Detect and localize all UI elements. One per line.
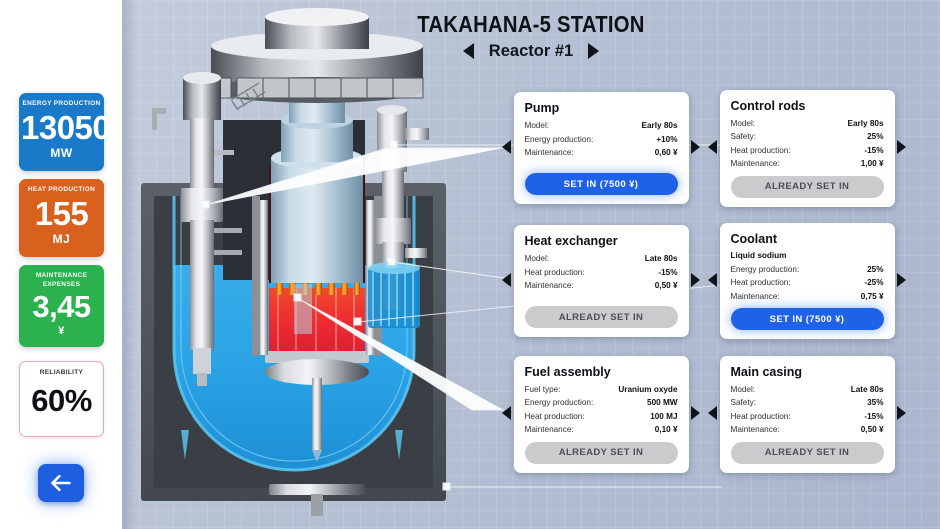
table-row: Model: Late 80s bbox=[731, 383, 884, 397]
pump-set-in-button[interactable]: SET IN (7500 ¥) bbox=[525, 173, 678, 195]
main-panel: TAKAHANA-5 STATION Reactor #1 bbox=[122, 0, 940, 529]
row-value: 0,10 ¥ bbox=[655, 423, 678, 437]
fuel-assembly-next-button[interactable] bbox=[691, 406, 700, 420]
table-row: Fuel type: Uranium oxyde bbox=[525, 383, 678, 397]
table-row: Heat production: -15% bbox=[525, 266, 678, 280]
heat-exchanger-next-button[interactable] bbox=[691, 273, 700, 287]
card-title: Control rods bbox=[731, 98, 884, 114]
stat-unit: MJ bbox=[21, 232, 102, 246]
table-row: Model: Early 80s bbox=[731, 117, 884, 131]
coolant-set-in-button[interactable]: SET IN (7500 ¥) bbox=[731, 308, 884, 330]
arrow-left-icon bbox=[50, 474, 72, 492]
table-row: Heat production: -25% bbox=[731, 276, 884, 290]
fuel-assembly-prev-button[interactable] bbox=[502, 406, 511, 420]
heat-exchanger-prev-button[interactable] bbox=[502, 273, 511, 287]
component-card-pump: Pump Model: Early 80s Energy production:… bbox=[514, 92, 689, 204]
component-card-main-casing: Main casing Model: Late 80s Safety: 35% … bbox=[720, 356, 895, 473]
row-label: Heat production: bbox=[525, 266, 585, 280]
table-row: Maintenance: 0,10 ¥ bbox=[525, 423, 678, 437]
main-casing-next-button[interactable] bbox=[897, 406, 906, 420]
stat-caption: MAINTENANCE EXPENSES bbox=[21, 271, 102, 289]
card-rows: Fuel type: Uranium oxyde Energy producti… bbox=[525, 383, 678, 437]
row-label: Energy production: bbox=[731, 263, 800, 277]
stat-caption: RELIABILITY bbox=[22, 368, 101, 377]
coolant-next-button[interactable] bbox=[897, 273, 906, 287]
reactor-name-label: Reactor #1 bbox=[489, 41, 573, 61]
table-row: Safety: 35% bbox=[731, 396, 884, 410]
table-row: Maintenance: 0,60 ¥ bbox=[525, 146, 678, 160]
row-label: Heat production: bbox=[731, 144, 791, 158]
back-button[interactable] bbox=[38, 464, 84, 502]
row-label: Heat production: bbox=[731, 276, 791, 290]
main-casing-already-set-in-button: ALREADY SET IN bbox=[731, 442, 884, 464]
page-header: TAKAHANA-5 STATION Reactor #1 bbox=[122, 10, 940, 61]
table-row: Model: Late 80s bbox=[525, 252, 678, 266]
card-title: Coolant bbox=[731, 231, 884, 247]
control-rods-prev-button[interactable] bbox=[708, 140, 717, 154]
card-rows: Energy production: 25% Heat production: … bbox=[731, 263, 884, 304]
table-row: Maintenance: 0,50 ¥ bbox=[525, 279, 678, 293]
card-rows: Model: Late 80s Heat production: -15% Ma… bbox=[525, 252, 678, 301]
card-rows: Model: Early 80s Energy production: +10%… bbox=[525, 119, 678, 168]
table-row: Safety: 25% bbox=[731, 130, 884, 144]
row-value: 0,60 ¥ bbox=[655, 146, 678, 160]
row-value: 1,00 ¥ bbox=[861, 157, 884, 171]
table-row: Maintenance: 0,75 ¥ bbox=[731, 290, 884, 304]
table-row: Energy production: +10% bbox=[525, 133, 678, 147]
stat-value: 155 bbox=[21, 195, 102, 232]
row-label: Model: bbox=[731, 117, 756, 131]
component-card-coolant: Coolant Liquid sodium Energy production:… bbox=[720, 223, 895, 340]
component-card-heat-exchanger: Heat exchanger Model: Late 80s Heat prod… bbox=[514, 225, 689, 337]
head-flange bbox=[211, 78, 423, 98]
component-card-control-rods: Control rods Model: Early 80s Safety: 25… bbox=[720, 90, 895, 207]
row-value: Late 80s bbox=[851, 383, 884, 397]
row-label: Safety: bbox=[731, 130, 757, 144]
row-label: Maintenance: bbox=[731, 290, 780, 304]
card-title: Fuel assembly bbox=[525, 364, 678, 380]
row-value: -15% bbox=[864, 410, 883, 424]
row-label: Fuel type: bbox=[525, 383, 561, 397]
row-label: Maintenance: bbox=[731, 423, 780, 437]
component-cards-grid: Pump Model: Early 80s Energy production:… bbox=[504, 88, 934, 474]
table-row: Heat production: 100 MJ bbox=[525, 410, 678, 424]
card-title: Pump bbox=[525, 100, 678, 116]
table-row: Maintenance: 1,00 ¥ bbox=[731, 157, 884, 171]
row-value: 0,50 ¥ bbox=[861, 423, 884, 437]
component-card-pump-wrapper: Pump Model: Early 80s Energy production:… bbox=[504, 88, 698, 208]
row-value: Late 80s bbox=[645, 252, 678, 266]
prev-reactor-button[interactable] bbox=[463, 43, 474, 59]
stat-card-maintenance-expenses: MAINTENANCE EXPENSES 3,45 ¥ bbox=[19, 265, 104, 347]
table-row: Maintenance: 0,50 ¥ bbox=[731, 423, 884, 437]
table-row: Energy production: 500 MW bbox=[525, 396, 678, 410]
stat-value: 13050 bbox=[21, 109, 102, 146]
row-label: Maintenance: bbox=[525, 279, 574, 293]
row-value: 500 MW bbox=[647, 396, 677, 410]
heat-exchanger-already-set-in-button: ALREADY SET IN bbox=[525, 306, 678, 328]
coolant-prev-button[interactable] bbox=[708, 273, 717, 287]
row-label: Heat production: bbox=[731, 410, 791, 424]
component-card-control-rods-wrapper: Control rods Model: Early 80s Safety: 25… bbox=[710, 88, 904, 208]
table-row: Heat production: -15% bbox=[731, 144, 884, 158]
stat-unit: MW bbox=[21, 146, 102, 160]
row-value: Early 80s bbox=[848, 117, 884, 131]
table-row: Heat production: -15% bbox=[731, 410, 884, 424]
row-label: Maintenance: bbox=[525, 423, 574, 437]
row-value: -25% bbox=[864, 276, 883, 290]
component-card-heat-exchanger-wrapper: Heat exchanger Model: Late 80s Heat prod… bbox=[504, 221, 698, 341]
card-title: Heat exchanger bbox=[525, 233, 678, 249]
pump-next-button[interactable] bbox=[691, 140, 700, 154]
stat-value: 3,45 bbox=[21, 290, 102, 324]
card-title: Main casing bbox=[731, 364, 884, 380]
next-reactor-button[interactable] bbox=[588, 43, 599, 59]
stat-caption: ENERGY PRODUCTION bbox=[21, 99, 102, 108]
stat-value: 60% bbox=[22, 378, 101, 424]
row-value: Uranium oxyde bbox=[618, 383, 677, 397]
reactor-selector: Reactor #1 bbox=[122, 41, 940, 61]
row-label: Model: bbox=[525, 119, 550, 133]
card-rows: Model: Late 80s Safety: 35% Heat product… bbox=[731, 383, 884, 437]
row-label: Safety: bbox=[731, 396, 757, 410]
table-row: Energy production: 25% bbox=[731, 263, 884, 277]
row-label: Model: bbox=[731, 383, 756, 397]
stats-sidebar: ENERGY PRODUCTION 13050 MW HEAT PRODUCTI… bbox=[0, 0, 122, 529]
stat-unit: ¥ bbox=[21, 324, 102, 338]
row-label: Energy production: bbox=[525, 396, 594, 410]
component-card-fuel-assembly-wrapper: Fuel assembly Fuel type: Uranium oxyde E… bbox=[504, 354, 698, 474]
fuel-assembly-already-set-in-button: ALREADY SET IN bbox=[525, 442, 678, 464]
row-value: -15% bbox=[658, 266, 677, 280]
row-value: 0,50 ¥ bbox=[655, 279, 678, 293]
card-subtitle: Liquid sodium bbox=[731, 250, 884, 262]
pump-prev-button[interactable] bbox=[502, 140, 511, 154]
control-rods-already-set-in-button: ALREADY SET IN bbox=[731, 176, 884, 198]
row-label: Maintenance: bbox=[525, 146, 574, 160]
component-card-coolant-wrapper: Coolant Liquid sodium Energy production:… bbox=[710, 221, 904, 341]
row-label: Model: bbox=[525, 252, 550, 266]
main-casing-prev-button[interactable] bbox=[708, 406, 717, 420]
stat-caption: HEAT PRODUCTION bbox=[21, 185, 102, 194]
stat-card-reliability: RELIABILITY 60% bbox=[19, 361, 104, 437]
reactor-management-screen: ENERGY PRODUCTION 13050 MW HEAT PRODUCTI… bbox=[0, 0, 940, 529]
row-label: Energy production: bbox=[525, 133, 594, 147]
row-value: Early 80s bbox=[642, 119, 678, 133]
control-rods-next-button[interactable] bbox=[897, 140, 906, 154]
table-row: Model: Early 80s bbox=[525, 119, 678, 133]
reactor-cutaway-illustration bbox=[122, 0, 509, 529]
card-rows: Model: Early 80s Safety: 25% Heat produc… bbox=[731, 117, 884, 171]
stat-card-energy-production: ENERGY PRODUCTION 13050 MW bbox=[19, 93, 104, 171]
row-label: Maintenance: bbox=[731, 157, 780, 171]
row-label: Heat production: bbox=[525, 410, 585, 424]
row-value: 100 MJ bbox=[650, 410, 677, 424]
row-value: +10% bbox=[656, 133, 677, 147]
row-value: -15% bbox=[864, 144, 883, 158]
row-value: 25% bbox=[867, 130, 883, 144]
page-title: TAKAHANA-5 STATION bbox=[171, 10, 891, 38]
stat-card-heat-production: HEAT PRODUCTION 155 MJ bbox=[19, 179, 104, 257]
component-card-fuel-assembly: Fuel assembly Fuel type: Uranium oxyde E… bbox=[514, 356, 689, 473]
row-value: 0,75 ¥ bbox=[861, 290, 884, 304]
row-value: 25% bbox=[867, 263, 883, 277]
row-value: 35% bbox=[867, 396, 883, 410]
component-card-main-casing-wrapper: Main casing Model: Late 80s Safety: 35% … bbox=[710, 354, 904, 474]
